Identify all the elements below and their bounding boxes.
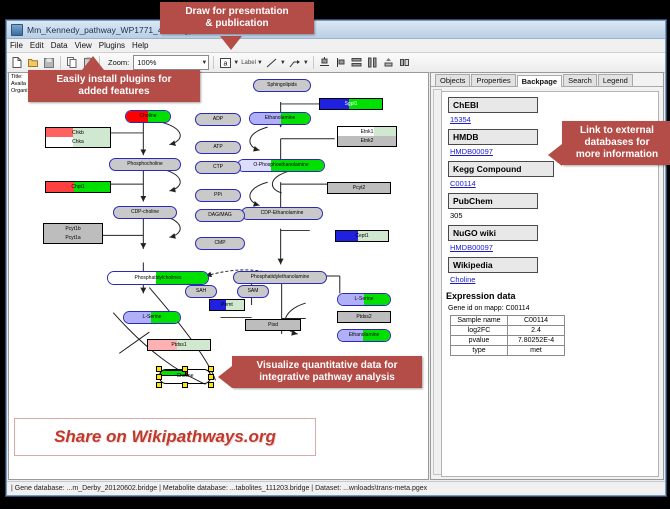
cell-value: met — [508, 346, 565, 356]
node-label: ATP — [213, 145, 222, 150]
cell-label: pvalue — [451, 336, 508, 346]
gene-node-cept1[interactable]: Cept1 — [335, 230, 389, 242]
node-label: SAH — [196, 289, 206, 294]
gene-node-pisd[interactable]: Pisd — [245, 319, 301, 331]
menu-item-file[interactable]: File — [10, 41, 23, 50]
chevron-down-icon[interactable]: ▼ — [201, 60, 207, 66]
align-rows-icon[interactable] — [350, 56, 364, 70]
node-label: PPi — [214, 193, 222, 198]
share-banner: Share on Wikipathways.org — [14, 418, 316, 456]
selection-handle[interactable] — [156, 382, 162, 388]
table-row: type met — [451, 346, 565, 356]
chevron-down-icon[interactable]: ▼ — [233, 60, 239, 66]
chevron-down-icon[interactable]: ▼ — [257, 60, 263, 66]
db-link-nugo-wiki[interactable]: HMDB00097 — [450, 243, 658, 252]
expression-table: Sample name C00114 log2FC 2.4 pvalue 7.8… — [450, 315, 565, 356]
share-text: Share on Wikipathways.org — [54, 427, 276, 447]
status-bar: | Gene database: ...m_Derby_20120602.bri… — [7, 481, 665, 495]
align-left-icon[interactable] — [334, 56, 348, 70]
toolbar-separator — [213, 56, 214, 69]
node-label: O-Phosphoethanolamine — [253, 163, 308, 168]
metabolite-node-cdp-choline[interactable]: CDP-choline — [113, 206, 177, 219]
align-columns-icon[interactable] — [366, 56, 380, 70]
toolbar-separator — [60, 56, 61, 69]
app-icon — [11, 24, 23, 36]
gene-node-pemt[interactable]: Pemt — [209, 299, 245, 311]
stack-icon[interactable] — [382, 56, 396, 70]
node-label: Ethanolamine — [265, 116, 296, 121]
menu-bar: File Edit Data View Plugins Help — [7, 39, 665, 53]
callout-line-1: Draw for presentation — [166, 6, 308, 18]
node-label: L-Serine — [355, 297, 374, 302]
node-label: Ptdss1 — [171, 343, 186, 348]
metabolite-node-ethanolamine-top[interactable]: Ethanolamine — [249, 112, 311, 125]
node-label: Ethanolamine — [349, 333, 380, 338]
node-label: Sphingolipids — [267, 83, 297, 88]
cell-label: Sample name — [451, 316, 508, 326]
callout-line-2: & publication — [166, 18, 308, 30]
node-label: ADP — [213, 117, 223, 122]
db-header-nugo-wiki: NuGO wiki — [448, 225, 538, 241]
node-label: Sgpl1 — [345, 102, 358, 107]
save-icon[interactable] — [42, 56, 56, 70]
node-label: Etnk2 — [361, 139, 374, 144]
node-label: CDP-choline — [131, 210, 159, 215]
node-label: CMP — [214, 241, 225, 246]
menu-item-edit[interactable]: Edit — [30, 41, 44, 50]
node-label: Etnk1 — [361, 130, 374, 135]
metabolite-node-l-serine-right[interactable]: L-Serine — [337, 293, 391, 306]
gene-node-ptdss2[interactable]: Ptdss2 — [337, 311, 391, 323]
metabolite-node-dagmag[interactable]: DAG/MAG — [195, 209, 245, 222]
metabolite-node-phosphatidylethanolamine[interactable]: Phosphatidylethanolamine — [233, 271, 327, 284]
db-header-kegg-compound: Kegg Compound — [448, 161, 554, 177]
gene-node-sgpl1[interactable]: Sgpl1 — [319, 98, 383, 110]
line-tool-group[interactable]: ▼ — [265, 56, 286, 70]
side-panel-tabs: Objects Properties Backpage Search Legen… — [431, 73, 663, 87]
menu-item-view[interactable]: View — [75, 41, 92, 50]
gene-node-pcyt1a[interactable]: Pcyt1a — [43, 233, 103, 244]
metabolite-node-sam[interactable]: SAM — [237, 285, 269, 298]
chevron-down-icon[interactable]: ▼ — [280, 60, 286, 66]
table-row: log2FC 2.4 — [451, 326, 565, 336]
line-icon[interactable] — [265, 56, 279, 70]
node-label: Cept1 — [355, 234, 368, 239]
node-label: Phosphatidylcholines — [135, 276, 182, 281]
metabolite-node-l-serine-left[interactable]: L-Serine — [123, 311, 181, 324]
tab-search[interactable]: Search — [563, 74, 597, 86]
node-label: Pcyt1b — [65, 227, 80, 232]
db-header-hmdb: HMDB — [448, 129, 538, 145]
gene-node-chka[interactable]: Chka — [45, 137, 111, 148]
node-label: Phosphatidylethanolamine — [251, 275, 310, 280]
metabolite-node-phosphocholine[interactable]: Phosphocholine — [109, 158, 181, 171]
metabolite-node-sah[interactable]: SAH — [185, 285, 217, 298]
node-label: Pisd — [268, 323, 278, 328]
metabolite-node-phosphatidylcholine[interactable]: Phosphatidylcholines — [107, 271, 209, 285]
expression-data-heading: Expression data — [446, 291, 658, 301]
callout-visualize-quantitative-data: Visualize quantitative data for integrat… — [232, 356, 422, 388]
tab-objects[interactable]: Objects — [435, 74, 470, 86]
node-label: L-Serine — [143, 315, 162, 320]
menu-item-data[interactable]: Data — [51, 41, 68, 50]
node-label: Chka — [72, 140, 84, 145]
selection-handle[interactable] — [156, 366, 162, 372]
screenshot-root: Mm_Kennedy_pathway_WP1771_45176.gpml Fil… — [0, 0, 670, 509]
db-header-chebi: ChEBI — [448, 97, 538, 113]
callout-arrow-left — [548, 144, 562, 166]
node-label: Chpt1 — [71, 185, 84, 190]
node-label: Chkb — [72, 131, 84, 136]
cell-label: log2FC — [451, 326, 508, 336]
node-label: CTP — [213, 165, 223, 170]
align-top-icon[interactable] — [318, 56, 332, 70]
callout-line-1: Link to external — [568, 125, 666, 137]
zoom-value: 100% — [137, 58, 156, 67]
callout-arrow-down — [220, 36, 242, 50]
callout-line-2: integrative pathway analysis — [238, 372, 416, 384]
metabolite-node-adp[interactable]: ADP — [195, 113, 241, 126]
chevron-down-icon[interactable]: ▼ — [303, 60, 309, 66]
table-row: pvalue 7.80252E-4 — [451, 336, 565, 346]
label-tool-group[interactable]: Label ▼ — [241, 60, 263, 66]
gene-node-chpt1[interactable]: Chpt1 — [45, 181, 111, 193]
tab-backpage[interactable]: Backpage — [517, 75, 562, 87]
callout-line-1: Visualize quantitative data for — [238, 360, 416, 372]
cell-value: C00114 — [508, 316, 565, 326]
svg-text:a: a — [223, 60, 227, 67]
node-label: Pemt — [221, 303, 233, 308]
node-label: Pcyt1a — [65, 236, 80, 241]
callout-line-2: databases for — [568, 137, 666, 149]
cell-label: type — [451, 346, 508, 356]
copy-icon[interactable] — [65, 56, 79, 70]
cell-value: 2.4 — [508, 326, 565, 336]
menu-item-help[interactable]: Help — [132, 41, 148, 50]
status-text: | Gene database: ...m_Derby_20120602.bri… — [7, 485, 427, 492]
node-label: Phosphocholine — [127, 162, 163, 167]
zoom-label: Zoom: — [108, 58, 129, 67]
metabolite-node-ppi[interactable]: PPi — [195, 189, 241, 202]
toolbar-separator — [313, 56, 314, 69]
selection-handle[interactable] — [182, 382, 188, 388]
callout-draw-for-presentation: Draw for presentation & publication — [160, 2, 314, 34]
text-icon[interactable]: a — [218, 56, 232, 70]
metabolite-node-choline-selected[interactable]: Choline — [159, 369, 211, 384]
selection-handle[interactable] — [208, 366, 214, 372]
db-value-pubchem: 305 — [450, 211, 658, 220]
label-tool-label: Label — [241, 60, 256, 66]
metabolite-node-ethanolamine-bottom[interactable]: Ethanolamine — [337, 329, 391, 342]
node-label: CDP-Ethanolamine — [261, 211, 304, 216]
metabolite-node-cmp[interactable]: CMP — [195, 237, 245, 250]
gene-id-on-mapp: Gene id on mapp: C00114 — [448, 305, 658, 312]
callout-easily-install-plugins: Easily install plugins for added feature… — [28, 70, 200, 102]
db-link-kegg-compound[interactable]: C00114 — [450, 179, 658, 188]
title-bar: Mm_Kennedy_pathway_WP1771_45176.gpml — [7, 21, 665, 39]
callout-arrow-up — [82, 56, 104, 70]
db-header-pubchem: PubChem — [448, 193, 538, 209]
metabolite-node-choline[interactable]: Choline — [125, 110, 171, 123]
open-icon[interactable] — [26, 56, 40, 70]
selection-handle[interactable] — [156, 374, 162, 380]
gene-node-etnk2[interactable]: Etnk2 — [337, 136, 397, 147]
gene-node-pcyt2[interactable]: Pcyt2 — [327, 182, 391, 194]
selection-handle[interactable] — [182, 366, 188, 372]
cell-value: 7.80252E-4 — [508, 336, 565, 346]
node-label: SAM — [248, 289, 259, 294]
gene-node-ptdss1[interactable]: Ptdss1 — [147, 339, 211, 351]
db-header-wikipedia: Wikipedia — [448, 257, 538, 273]
arrow-icon[interactable] — [288, 56, 302, 70]
callout-line-1: Easily install plugins for — [34, 74, 194, 86]
zoom-combobox[interactable]: 100% ▼ — [133, 55, 209, 70]
new-icon[interactable] — [10, 56, 24, 70]
metabolite-node-ctp[interactable]: CTP — [195, 161, 241, 174]
group-icon[interactable] — [398, 56, 412, 70]
metabolite-node-atp[interactable]: ATP — [195, 141, 241, 154]
tab-legend[interactable]: Legend — [598, 74, 633, 86]
callout-line-2: added features — [34, 86, 194, 98]
metabolite-node-sphingolipids[interactable]: Sphingolipids — [253, 79, 311, 92]
table-row: Sample name C00114 — [451, 316, 565, 326]
metabolite-node-cdp-ethanolamine[interactable]: CDP-Ethanolamine — [241, 207, 323, 220]
tab-properties[interactable]: Properties — [471, 74, 515, 86]
selection-handle[interactable] — [208, 382, 214, 388]
node-label: DAG/MAG — [208, 213, 232, 218]
node-label: Pcyt2 — [353, 186, 366, 191]
selection-handle[interactable] — [208, 374, 214, 380]
node-label: Choline — [140, 114, 157, 119]
callout-line-3: more information — [568, 149, 666, 161]
arrow-tool-group[interactable]: ▼ — [288, 56, 309, 70]
db-link-wikipedia[interactable]: Choline — [450, 275, 658, 284]
node-label: Choline — [177, 374, 194, 379]
metabolite-node-o-phosphoethanolamine[interactable]: O-Phosphoethanolamine — [237, 159, 325, 172]
callout-arrow-left — [218, 366, 232, 388]
node-label: Ptdss2 — [356, 315, 371, 320]
text-tool-group[interactable]: a ▼ — [218, 56, 239, 70]
callout-link-external-databases: Link to external databases for more info… — [562, 121, 670, 165]
menu-item-plugins[interactable]: Plugins — [99, 41, 125, 50]
